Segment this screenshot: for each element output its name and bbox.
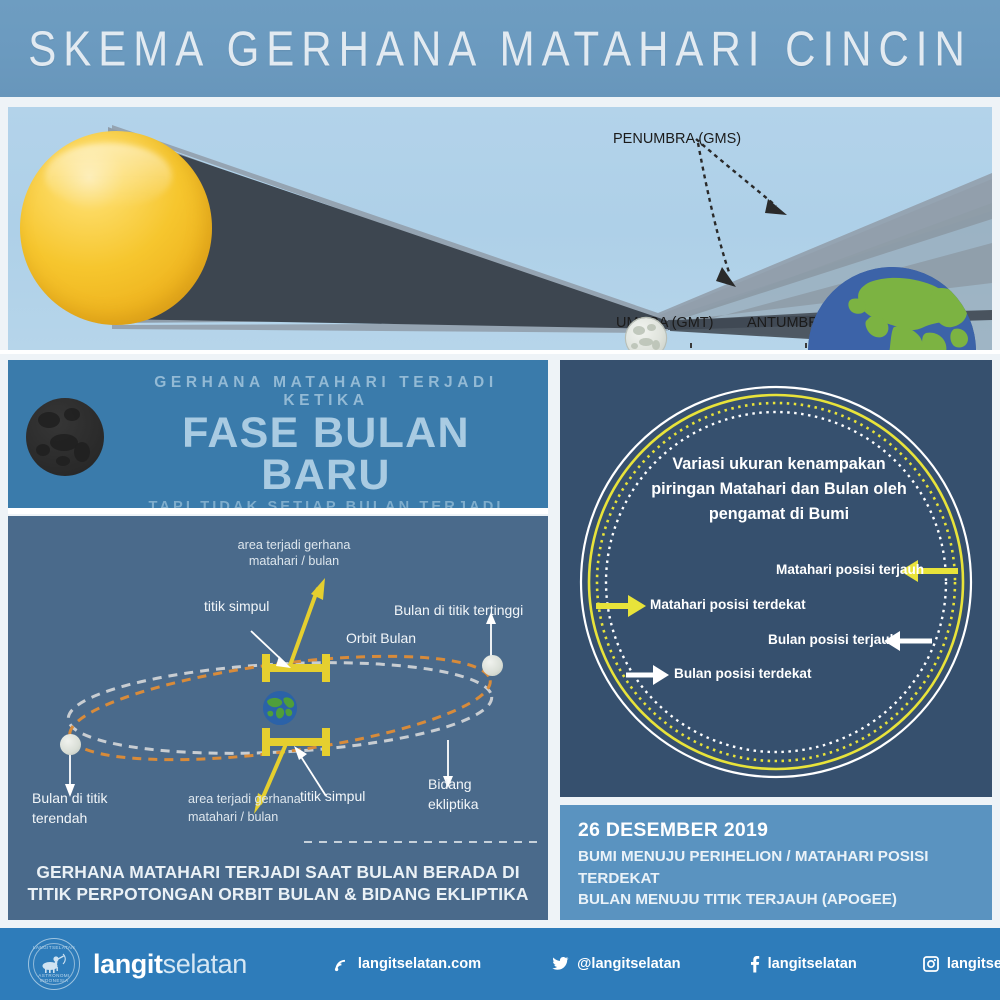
twitter-icon: [551, 956, 569, 972]
label-node-top: titik simpul: [204, 598, 269, 616]
label-moon-highest: Bulan di titik tertinggi: [394, 602, 523, 620]
footer-link-instagram-label: langitselatanmedia: [947, 956, 1000, 972]
footer-link-instagram[interactable]: langitselatanmedia: [923, 956, 1000, 972]
header-bar: SKEMA GERHANA MATAHARI CINCIN: [0, 0, 1000, 97]
label-moon-lowest: Bulan di titik terendah: [32, 788, 107, 829]
event-detail-lines: BUMI MENUJU PERIHELION / MATAHARI POSISI…: [578, 846, 992, 911]
moon-disc: [626, 318, 666, 350]
new-moon-phase-panel: GERHANA MATAHARI TERJADI KETIKA FASE BUL…: [8, 360, 548, 508]
moon-at-highest-point: [482, 655, 503, 676]
footer-link-website[interactable]: langitselatan.com: [333, 956, 481, 973]
event-date-box: 26 DESEMBER 2019 BUMI MENUJU PERIHELION …: [560, 805, 992, 920]
footer-bar: LANGITSELATAN ASTRONOMI INDONESIA: [0, 928, 1000, 1000]
label-eclipse-area-bottom: area terjadi gerhana matahari / bulan: [188, 790, 301, 827]
label-ecliptic-plane: Bidang ekliptika: [428, 774, 479, 815]
right-heading-line2: piringan Matahari dan Bulan oleh: [651, 480, 906, 498]
phase-line-2: FASE BULAN BARU: [118, 412, 534, 496]
label-matahari-posisi-terjauh: Matahari posisi terjauh: [776, 562, 924, 577]
label-eclipse-area-top-line2: matahari / bulan: [249, 554, 339, 568]
lunar-orbit-nodes-panel: area terjadi gerhana matahari / bulan ti…: [8, 516, 548, 920]
right-heading-line3: pengamat di Bumi: [709, 505, 849, 523]
phase-line-1: GERHANA MATAHARI TERJADI KETIKA: [118, 374, 534, 410]
label-ecliptic-plane-line2: ekliptika: [428, 796, 479, 812]
orbit-caption-line2: TITIK PERPOTONGAN ORBIT BULAN & BIDANG E…: [27, 884, 528, 904]
brand-name-light: selatan: [163, 949, 247, 979]
label-eclipse-area-bottom-line2: matahari / bulan: [188, 810, 278, 824]
event-date: 26 DESEMBER 2019: [578, 819, 992, 842]
right-heading-line1: Variasi ukuran kenampakan: [672, 455, 885, 473]
label-bulan-posisi-terdekat: Bulan posisi terdekat: [674, 666, 811, 681]
footer-link-facebook-label: langitselatan: [768, 956, 857, 972]
event-detail-line2: BULAN MENUJU TITIK TERJAUH (APOGEE): [578, 891, 897, 908]
sun-sphere: [20, 131, 212, 325]
label-node-bottom: titik simpul: [300, 788, 365, 806]
label-eclipse-area-bottom-line1: area terjadi gerhana: [188, 792, 301, 806]
label-bulan-posisi-terjauh: Bulan posisi terjauh: [768, 632, 898, 647]
rss-icon: [333, 956, 350, 973]
concentric-rings: [560, 360, 992, 797]
seal-bottom-text: ASTRONOMI INDONESIA: [29, 973, 79, 983]
langitselatan-seal-logo: LANGITSELATAN ASTRONOMI INDONESIA: [28, 938, 80, 990]
orbit-panel-caption: GERHANA MATAHARI TERJADI SAAT BULAN BERA…: [8, 861, 548, 906]
label-eclipse-area-top: area terjadi gerhana matahari / bulan: [194, 538, 394, 569]
node-marker-top: [262, 654, 330, 682]
earth-globe-small: [263, 691, 297, 725]
instagram-icon: [923, 956, 939, 972]
event-detail-line1: BUMI MENUJU PERIHELION / MATAHARI POSISI…: [578, 848, 928, 887]
label-moon-lowest-line2: terendah: [32, 810, 87, 826]
brand-name-bold: langit: [93, 949, 163, 979]
moon-at-lowest-point: [60, 734, 81, 755]
new-moon-icon: [26, 398, 104, 476]
label-ecliptic-plane-line1: Bidang: [428, 776, 472, 792]
page-title: SKEMA GERHANA MATAHARI CINCIN: [28, 20, 972, 77]
footer-link-twitter[interactable]: @langitselatan: [551, 956, 680, 972]
divider-2: [8, 508, 548, 514]
apparent-size-variation-panel: Variasi ukuran kenampakan piringan Matah…: [560, 360, 992, 797]
facebook-icon: [749, 955, 760, 973]
seal-top-text: LANGITSELATAN: [29, 945, 79, 950]
right-panel-heading: Variasi ukuran kenampakan piringan Matah…: [634, 452, 924, 527]
footer-link-twitter-label: @langitselatan: [577, 956, 680, 972]
infographic-root: SKEMA GERHANA MATAHARI CINCIN: [0, 0, 1000, 1000]
footer-link-facebook[interactable]: langitselatan: [749, 955, 857, 973]
eclipse-geometry-panel: PENUMBRA (GMS) UMBRA (GMT) ANTUMBRA (GMC…: [8, 107, 992, 350]
label-moon-lowest-line1: Bulan di titik: [32, 790, 107, 806]
brand-name: langitselatan: [93, 949, 247, 980]
label-matahari-posisi-terdekat: Matahari posisi terdekat: [650, 597, 806, 612]
label-eclipse-area-top-line1: area terjadi gerhana: [238, 538, 351, 552]
annotation-penumbra: PENUMBRA (GMS): [613, 131, 741, 147]
brand-lockup[interactable]: LANGITSELATAN ASTRONOMI INDONESIA: [28, 938, 247, 990]
earth-globe: [808, 267, 976, 350]
divider-1: [0, 350, 1000, 354]
label-moon-orbit: Orbit Bulan: [346, 630, 416, 648]
footer-link-website-label: langitselatan.com: [358, 956, 481, 972]
orbit-caption-line1: GERHANA MATAHARI TERJADI SAAT BULAN BERA…: [36, 862, 519, 882]
